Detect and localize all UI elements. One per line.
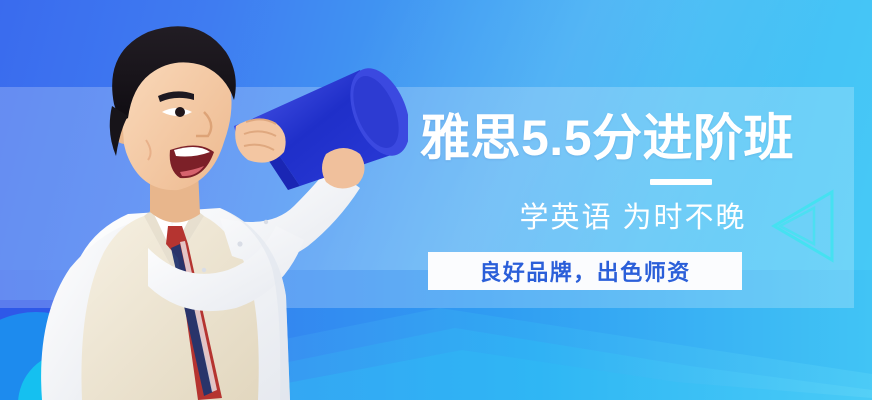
banner-badge: 良好品牌，出色师资 bbox=[428, 252, 742, 290]
photo-man-with-megaphone bbox=[8, 0, 408, 400]
headline-divider bbox=[650, 179, 712, 185]
banner-badge-text: 良好品牌，出色师资 bbox=[479, 255, 691, 287]
banner-content: 雅思5.5分进阶班 学英语 为时不晚 良好品牌，出色师资 bbox=[418, 0, 872, 400]
promo-banner: 雅思5.5分进阶班 学英语 为时不晚 良好品牌，出色师资 bbox=[0, 0, 872, 400]
banner-subheadline: 学英语 为时不晚 bbox=[418, 200, 848, 236]
banner-headline: 雅思5.5分进阶班 bbox=[420, 112, 840, 165]
